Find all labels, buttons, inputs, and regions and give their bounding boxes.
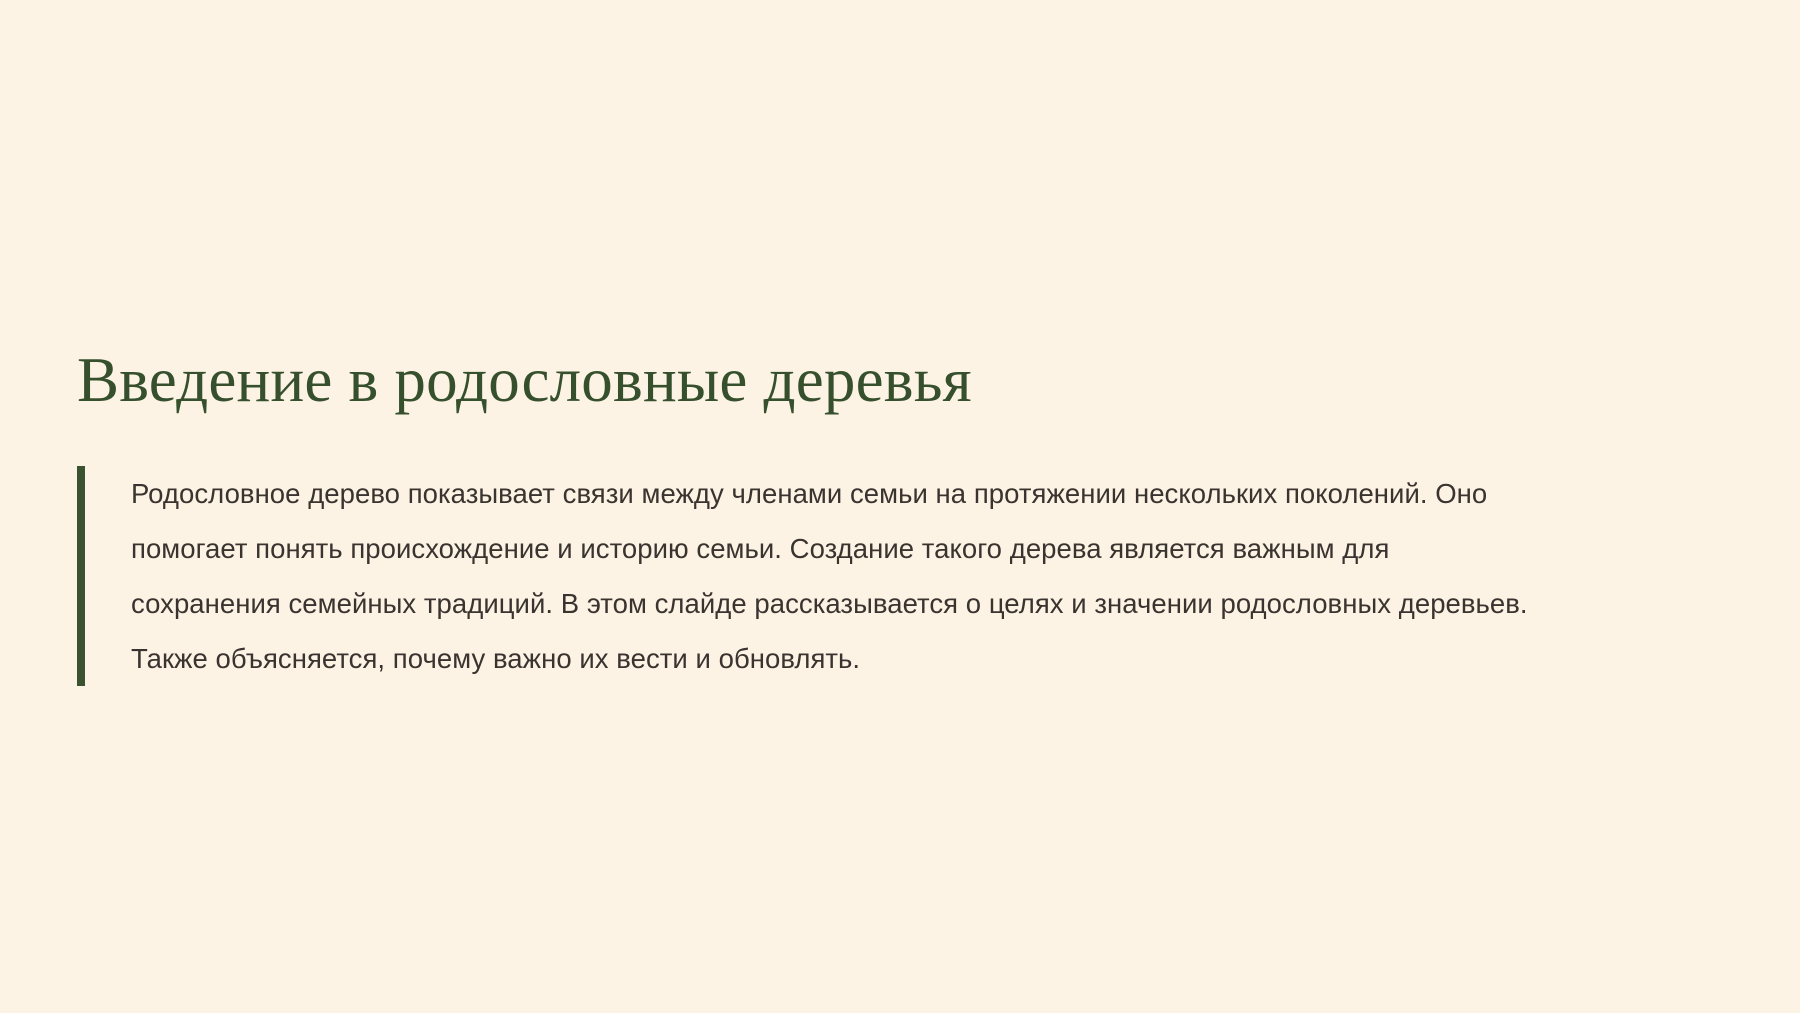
- body-text-container: Родословное дерево показывает связи межд…: [85, 466, 1717, 686]
- body-paragraph: Родословное дерево показывает связи межд…: [131, 466, 1531, 686]
- body-callout: Родословное дерево показывает связи межд…: [77, 466, 1717, 686]
- accent-bar: [77, 466, 85, 686]
- presentation-slide: Введение в родословные деревья Родословн…: [0, 0, 1800, 1013]
- page-title: Введение в родословные деревья: [77, 347, 1677, 413]
